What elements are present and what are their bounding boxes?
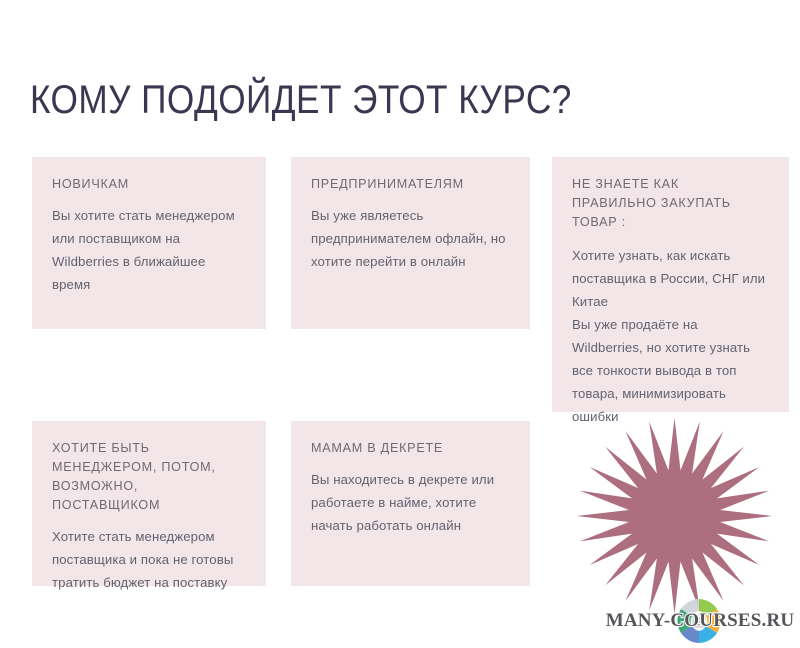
watermark: MANY-COURSES.RU xyxy=(600,596,800,648)
starburst-icon xyxy=(567,416,782,616)
card-heading: НОВИЧКАМ xyxy=(52,175,244,194)
card-heading: МАМАМ В ДЕКРЕТЕ xyxy=(311,439,508,458)
card-heading: ХОТИТЕ БЫТЬ МЕНЕДЖЕРОМ, ПОТОМ, ВОЗМОЖНО,… xyxy=(52,439,244,515)
card-body: Вы находитесь в декрете или работаете в … xyxy=(311,468,508,537)
page-title: КОМУ ПОДОЙДЕТ ЭТОТ КУРС? xyxy=(30,76,572,124)
slide-canvas: КОМУ ПОДОЙДЕТ ЭТОТ КУРС? НОВИЧКАМ Вы хот… xyxy=(0,0,800,648)
card-body: Хотите узнать, как искать поставщика в Р… xyxy=(572,244,767,428)
card-body: Вы уже являетесь предпринимателем офлайн… xyxy=(311,204,508,273)
card-body: Хотите стать менеджером поставщика и пок… xyxy=(52,525,244,594)
audience-card-moms: МАМАМ В ДЕКРЕТЕ Вы находитесь в декрете … xyxy=(291,421,530,586)
audience-card-manager: ХОТИТЕ БЫТЬ МЕНЕДЖЕРОМ, ПОТОМ, ВОЗМОЖНО,… xyxy=(32,421,266,586)
watermark-text: MANY-COURSES.RU xyxy=(600,610,800,632)
audience-card-sourcing: НЕ ЗНАЕТЕ КАК ПРАВИЛЬНО ЗАКУПАТЬ ТОВАР :… xyxy=(552,157,789,412)
card-heading: ПРЕДПРИНИМАТЕЛЯМ xyxy=(311,175,508,194)
audience-card-newcomers: НОВИЧКАМ Вы хотите стать менеджером или … xyxy=(32,157,266,329)
card-body: Вы хотите стать менеджером или поставщик… xyxy=(52,204,244,296)
starburst-decoration xyxy=(567,416,782,616)
card-heading: НЕ ЗНАЕТЕ КАК ПРАВИЛЬНО ЗАКУПАТЬ ТОВАР : xyxy=(572,175,767,232)
audience-card-entrepreneurs: ПРЕДПРИНИМАТЕЛЯМ Вы уже являетесь предпр… xyxy=(291,157,530,329)
